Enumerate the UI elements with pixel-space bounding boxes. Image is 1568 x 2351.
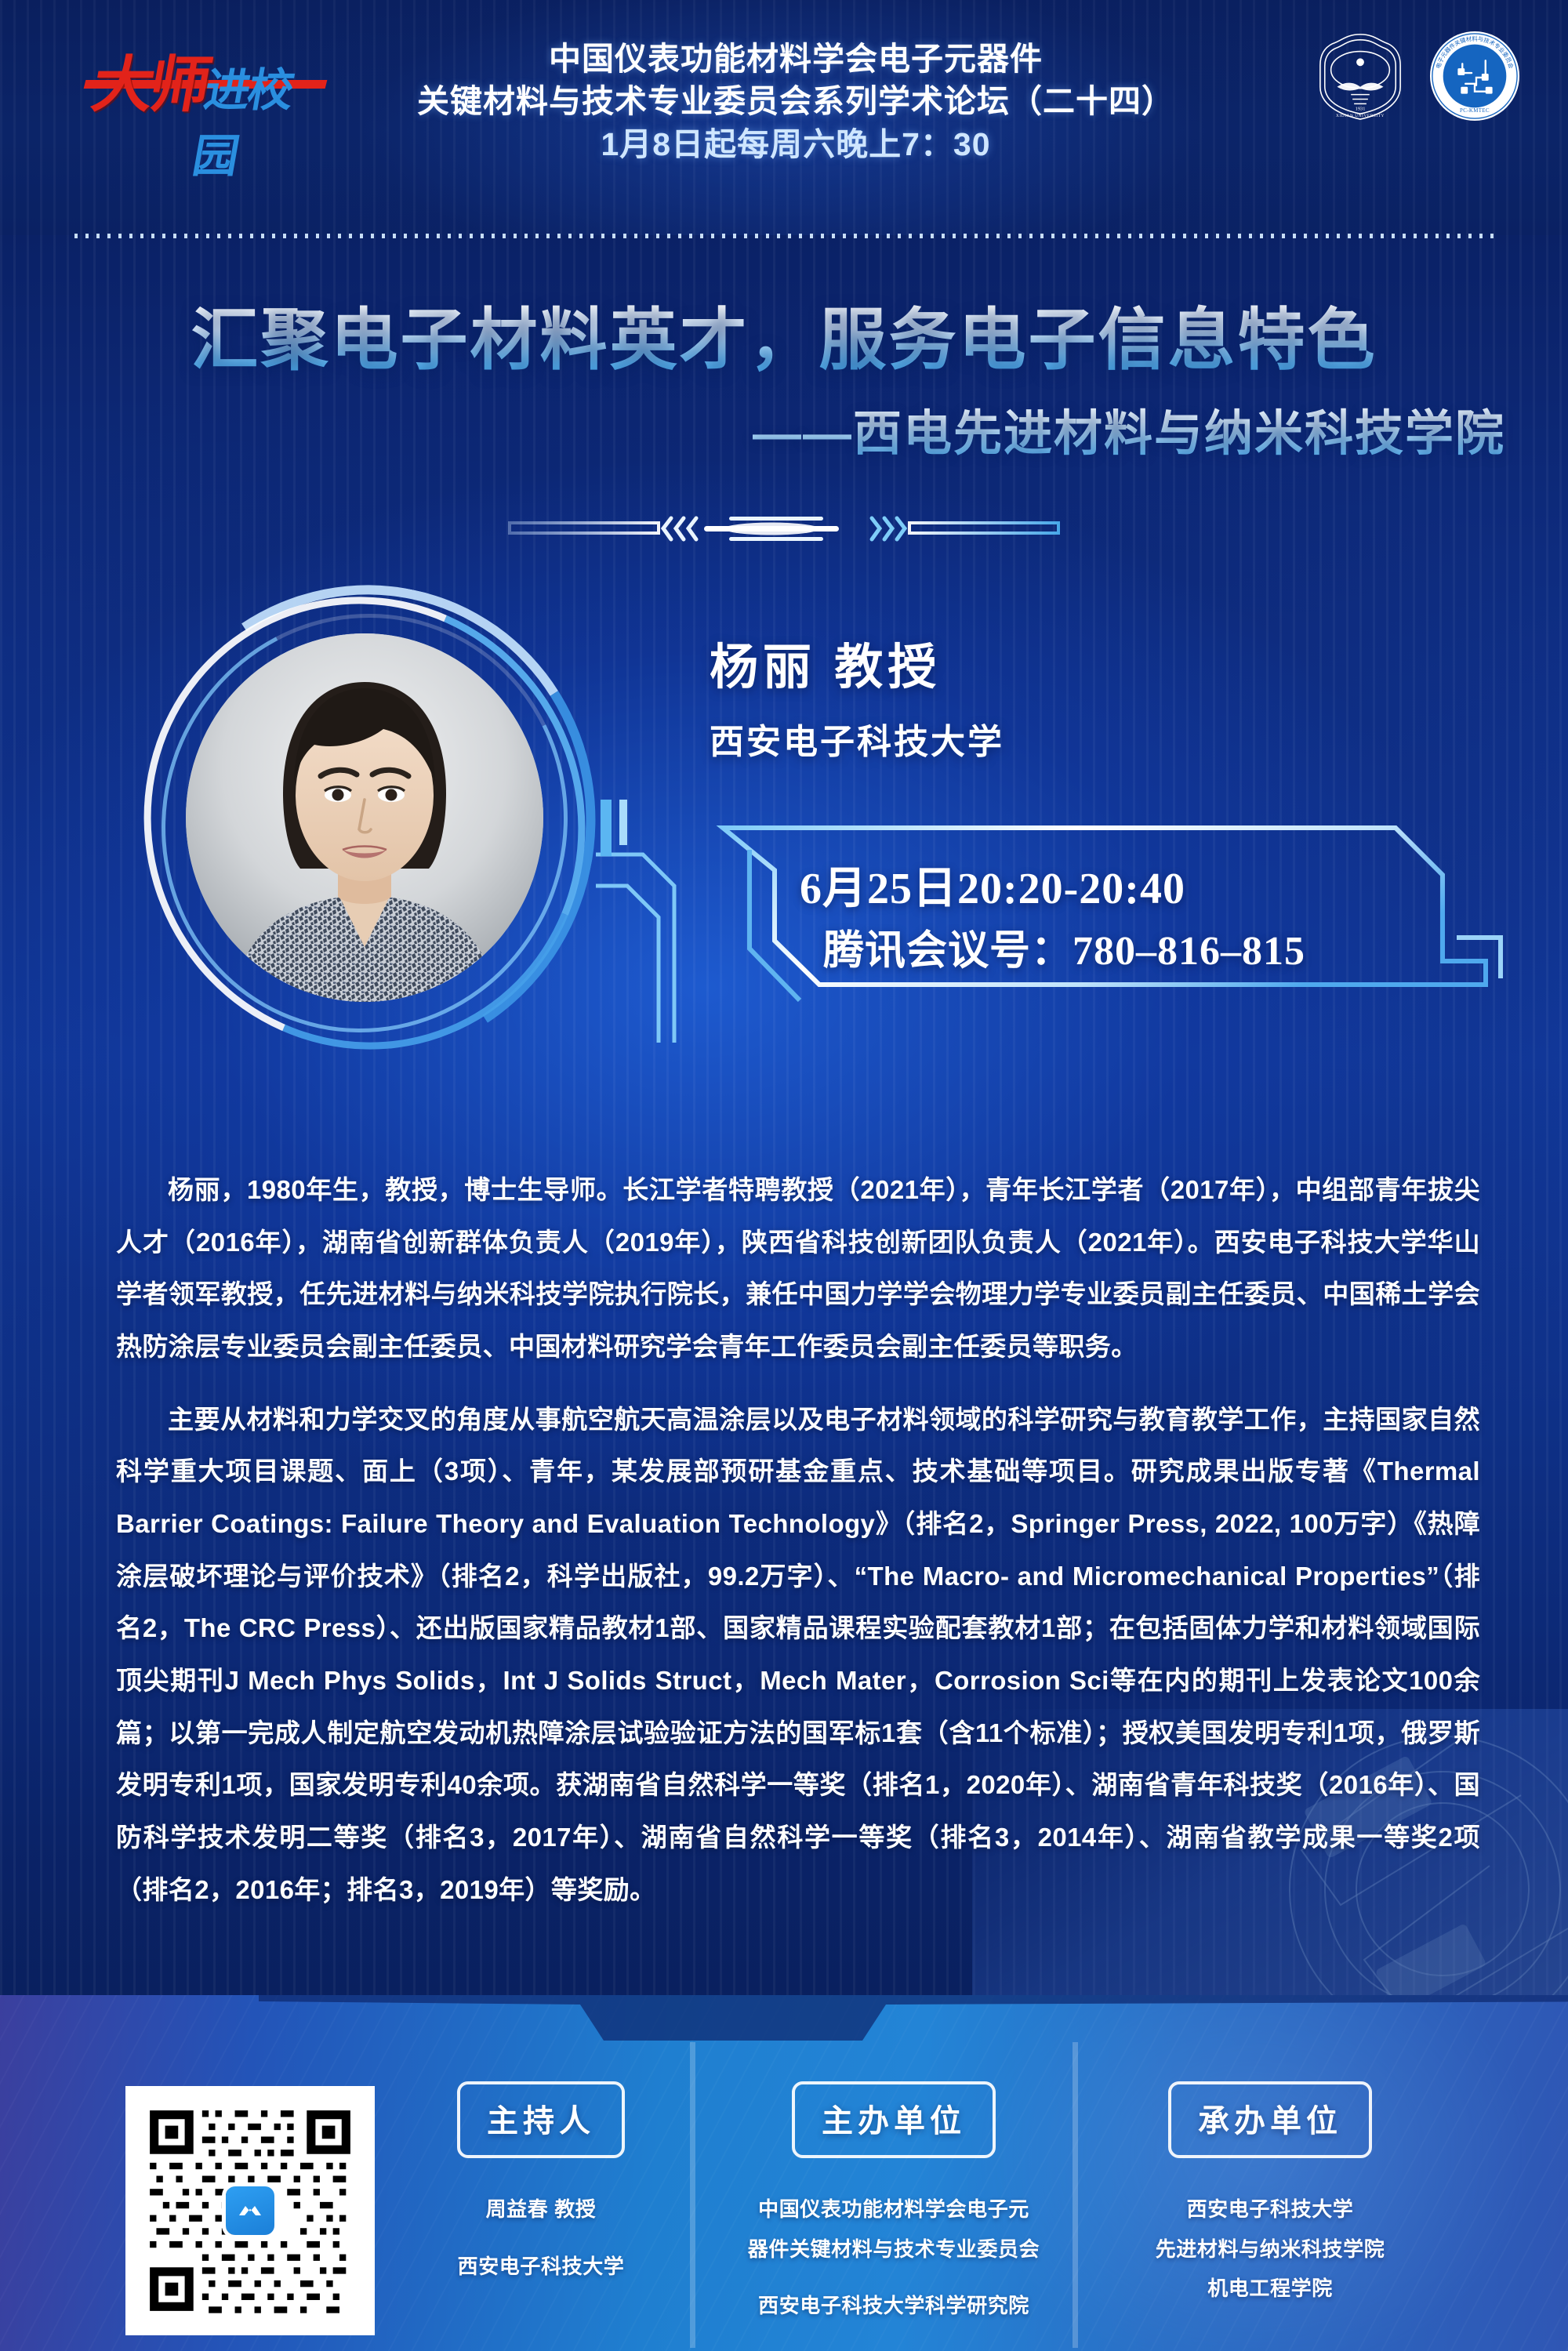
coorganizer-lines: 西安电子科技大学 先进材料与纳米科技学院 机电工程学院	[1098, 2190, 1443, 2309]
poster-footer: 主持人 周益春 教授 西安电子科技大学 主办单位 中国仪表功能材料学会电子元 器…	[0, 1995, 1568, 2351]
host-lines: 周益春 教授 西安电子科技大学	[392, 2190, 690, 2286]
coorganizer-line-3: 机电工程学院	[1098, 2269, 1443, 2309]
footer-column-coorganizer: 承办单位 西安电子科技大学 先进材料与纳米科技学院 机电工程学院	[1098, 2081, 1443, 2309]
schedule-datetime: 6月25日20:20-20:40	[800, 853, 1185, 916]
host-line-1: 周益春 教授	[392, 2190, 690, 2229]
footer-column-organizer: 主办单位 中国仪表功能材料学会电子元 器件关键材料与技术专业委员会 西安电子科技…	[729, 2081, 1058, 2326]
meeting-id: 腾讯会议号：780–816–815	[823, 917, 1305, 976]
organizer-line-1: 中国仪表功能材料学会电子元	[729, 2190, 1058, 2229]
footer-divider-1	[690, 2042, 695, 2348]
xidian-university-emblem-icon: 1931 XIDIAN UNIVERSITY	[1314, 30, 1406, 122]
speaker-photo-illustration	[186, 633, 543, 1002]
organizer-tag-label: 主办单位	[822, 2104, 966, 2139]
coorganizer-tag-label: 承办单位	[1198, 2104, 1342, 2139]
main-headline: 汇聚电子材料英才，服务电子信息特色	[0, 302, 1568, 379]
main-title-block: 汇聚电子材料英才，服务电子信息特色 ——西电先进材料与纳米科技学院	[0, 302, 1568, 464]
schedule-hexagon-box: 6月25日20:20-20:40 腾讯会议号：780–816–815	[713, 823, 1505, 1003]
header-emblems: 1931 XIDIAN UNIVERSITY	[1314, 30, 1521, 122]
footer-column-host: 主持人 周益春 教授 西安电子科技大学	[392, 2081, 690, 2286]
coorganizer-line-1: 西安电子科技大学	[1098, 2190, 1443, 2229]
header-title-line2: 关键材料与技术专业委员会系列学术论坛（二十四）	[392, 80, 1200, 122]
decorative-divider-ornament	[502, 506, 1066, 553]
qr-code[interactable]	[125, 2086, 375, 2335]
header-title-line3: 1月8日起每周六晚上7：30	[392, 122, 1200, 167]
logo-text-blue: 进校园	[188, 53, 325, 185]
pc-kmtec-committee-emblem-icon: 电子元器件关键材料与技术专业委员会 PC-KMTEC	[1428, 30, 1521, 122]
svg-text:PC-KMTEC: PC-KMTEC	[1460, 108, 1490, 114]
svg-text:XIDIAN UNIVERSITY: XIDIAN UNIVERSITY	[1336, 114, 1385, 118]
header-dotted-divider	[74, 234, 1494, 238]
host-line-2: 西安电子科技大学	[392, 2247, 690, 2287]
host-tag-label: 主持人	[487, 2104, 595, 2139]
tencent-meeting-glyph	[234, 2195, 266, 2226]
organizer-tag-box: 主办单位	[792, 2081, 996, 2158]
logo-text-red: 大师	[86, 36, 215, 124]
header-title-line1: 中国仪表功能材料学会电子元器件	[392, 38, 1200, 80]
qr-code-canvas	[141, 2102, 359, 2320]
tencent-meeting-logo-icon	[226, 2186, 274, 2235]
speaker-affiliation: 西安电子科技大学	[710, 713, 1004, 764]
footer-divider-2	[1073, 2042, 1078, 2348]
masters-on-campus-logo: 大师 进校园	[94, 31, 314, 125]
speaker-name: 杨丽 教授	[710, 627, 941, 698]
speaker-photo	[186, 633, 543, 1002]
header-title-block: 中国仪表功能材料学会电子元器件 关键材料与技术专业委员会系列学术论坛（二十四） …	[392, 38, 1200, 168]
organizer-line-2: 器件关键材料与技术专业委员会	[729, 2229, 1058, 2269]
organizer-line-3: 西安电子科技大学科学研究院	[729, 2286, 1058, 2326]
organizer-line-gap	[729, 2269, 1058, 2286]
main-subheadline: ——西电先进材料与纳米科技学院	[0, 394, 1568, 464]
svg-text:1931: 1931	[1356, 106, 1366, 111]
poster-header: 大师 进校园 中国仪表功能材料学会电子元器件 关键材料与技术专业委员会系列学术论…	[0, 0, 1568, 235]
organizer-lines: 中国仪表功能材料学会电子元 器件关键材料与技术专业委员会 西安电子科技大学科学研…	[729, 2190, 1058, 2326]
host-line-gap	[392, 2229, 690, 2247]
coorganizer-line-2: 先进材料与纳米科技学院	[1098, 2229, 1443, 2269]
bio-paragraph-1: 杨丽，1980年生，教授，博士生导师。长江学者特聘教授（2021年），青年长江学…	[116, 1164, 1480, 1373]
speaker-portrait	[145, 596, 584, 1050]
coorganizer-tag-box: 承办单位	[1168, 2081, 1372, 2158]
bio-paragraph-2: 主要从材料和力学交叉的角度从事航空航天高温涂层以及电子材料领域的科学研究与教育教…	[116, 1394, 1480, 1917]
host-tag-box: 主持人	[457, 2081, 625, 2158]
poster-root: 大师 进校园 中国仪表功能材料学会电子元器件 关键材料与技术专业委员会系列学术论…	[0, 0, 1568, 2351]
footer-top-notch	[259, 1995, 1568, 2041]
speaker-biography: 杨丽，1980年生，教授，博士生导师。长江学者特聘教授（2021年），青年长江学…	[116, 1164, 1480, 1916]
